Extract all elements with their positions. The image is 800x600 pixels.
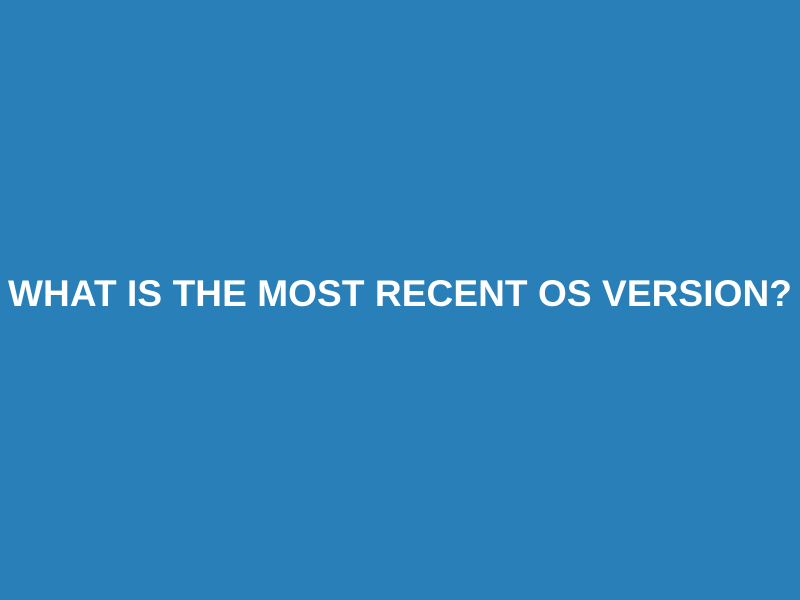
featured-image-banner: What is the most recent OS version? <box>0 0 800 600</box>
banner-content: What is the most recent OS version? <box>0 273 800 314</box>
banner-title: What is the most recent OS version? <box>8 273 792 314</box>
